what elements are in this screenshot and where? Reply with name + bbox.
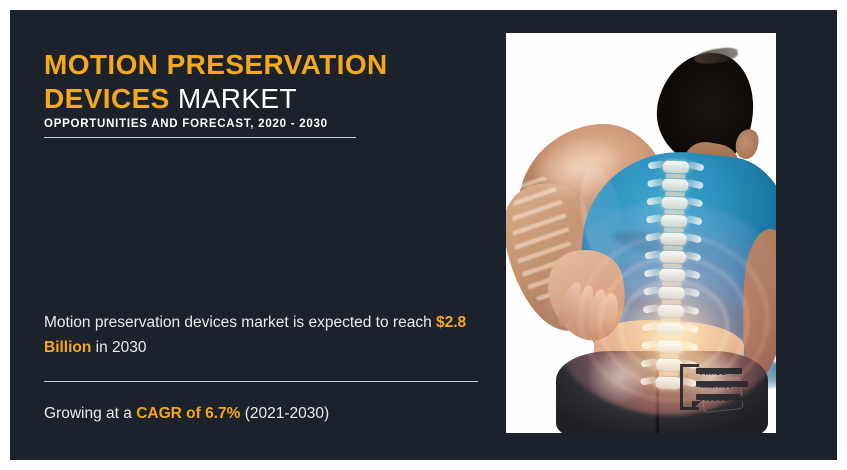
stat-2-prefix: Growing at a (44, 405, 136, 422)
watermark-text: AlliedMarketResearch (700, 366, 744, 405)
infographic-banner: MOTION PRESERVATIONDEVICES MARKET OPPORT… (10, 10, 837, 460)
watermark-line-1: Allied (700, 367, 726, 378)
page-title-plain: MARKET (178, 83, 297, 114)
subtitle-wrap: OPPORTUNITIES AND FORECAST, 2020 - 2030 (44, 118, 356, 138)
title-block: MOTION PRESERVATIONDEVICES MARKET (44, 48, 484, 115)
page-title: MOTION PRESERVATIONDEVICES MARKET (44, 48, 484, 115)
text-column: MOTION PRESERVATIONDEVICES MARKET OPPORT… (44, 10, 494, 460)
watermark-line-2: Market (700, 380, 731, 391)
stats-block: Motion preservation devices market is ex… (44, 310, 489, 426)
stat-line-cagr: Growing at a CAGR of 6.7% (2021-2030) (44, 401, 489, 426)
back-pain-photo: AlliedMarketResearch (506, 33, 776, 433)
watermark-line-3: Research (700, 393, 744, 404)
stat-2-value: CAGR of 6.7% (136, 405, 240, 422)
subtitle: OPPORTUNITIES AND FORECAST, 2020 - 2030 (44, 118, 356, 130)
stat-line-market-value: Motion preservation devices market is ex… (44, 310, 489, 360)
stat-1-prefix: Motion preservation devices market is ex… (44, 314, 436, 331)
page-title-accent-line1: MOTION PRESERVATION (44, 49, 388, 80)
stat-1-suffix: in 2030 (91, 339, 146, 356)
image-panel: AlliedMarketResearch (506, 33, 776, 433)
stat-2-suffix: (2021-2030) (240, 405, 329, 422)
page-title-accent-line2: DEVICES (44, 83, 170, 114)
stats-divider (44, 381, 478, 382)
allied-market-research-watermark: AlliedMarketResearch (678, 363, 774, 411)
